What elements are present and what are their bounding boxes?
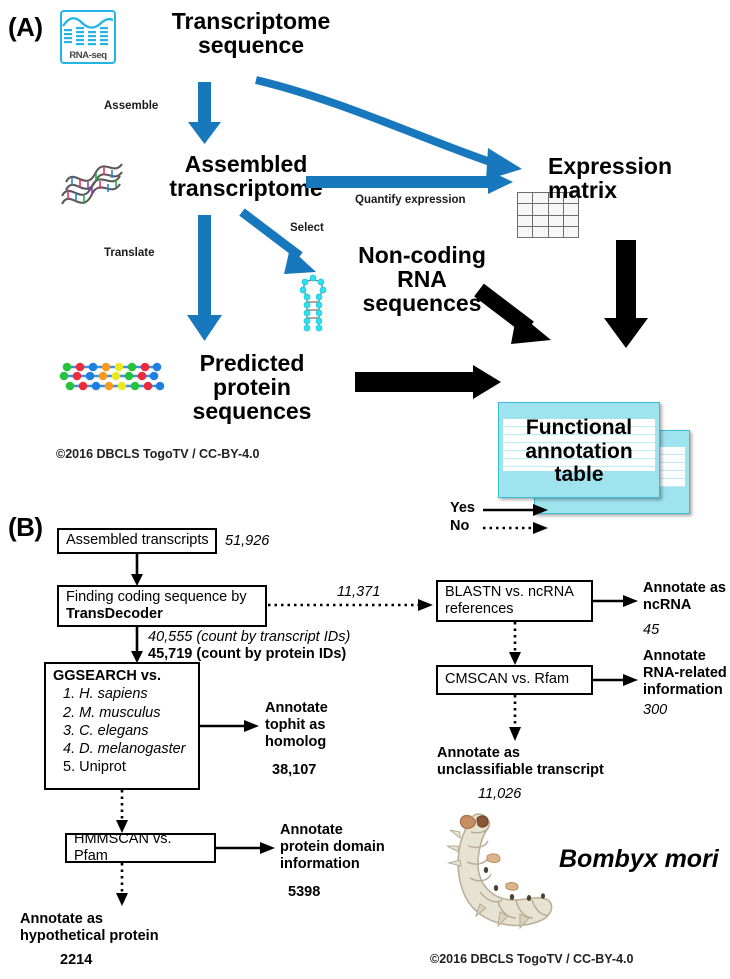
- legend-yes-label: Yes: [450, 500, 475, 516]
- legend-yes-arrow: [483, 503, 553, 517]
- arrow-ggsearch-to-hmmscan: [113, 790, 131, 834]
- arrow-protein-to-table: [355, 368, 505, 400]
- box-cmscan-label: CMSCAN vs. Rfam: [445, 671, 585, 688]
- count-ncrna: 45: [643, 622, 659, 638]
- annotation-ncrna: Annotate as ncRNA: [643, 580, 726, 614]
- annotation-protein-domain: Annotate protein domain information: [280, 822, 385, 872]
- edge-label-translate: Translate: [104, 247, 155, 259]
- arrow-blastn-to-cmscan: [506, 622, 524, 666]
- box-blastn-line1: BLASTN vs. ncRNA: [445, 584, 585, 601]
- box-ggsearch-title: GGSEARCH vs.: [53, 668, 192, 685]
- arrow-matrix-to-table: [604, 240, 650, 352]
- count-homolog: 38,107: [272, 762, 316, 778]
- node-predicted-protein: Predicted protein sequences: [152, 352, 352, 424]
- count-protein-domain: 5398: [288, 884, 320, 900]
- count-assembled-transcripts: 51,926: [225, 533, 269, 549]
- count-rna-related: 300: [643, 702, 667, 718]
- arrow-translate: [184, 215, 226, 345]
- node-expression-matrix: Expression matrix: [548, 155, 728, 203]
- box-transdecoder-line2: TransDecoder: [66, 606, 259, 623]
- box-ggsearch-item-3: 4. D. melanogaster: [53, 740, 192, 758]
- arrow-to-transdecoder: [128, 554, 146, 586]
- arrow-transdecoder-to-blastn: [268, 598, 436, 612]
- panel-a-letter: (A): [8, 12, 43, 43]
- arrow-to-ggsearch: [128, 627, 146, 663]
- box-transdecoder[interactable]: Finding coding sequence by TransDecoder: [57, 585, 267, 627]
- arrow-hmmscan-to-hypothetical: [113, 863, 131, 907]
- count-hypothetical: 2214: [60, 952, 92, 968]
- panel-b-letter: (B): [8, 512, 43, 543]
- edge-label-select: Select: [290, 222, 324, 234]
- count-transdecoder-to-blastn: 11,371: [337, 584, 380, 600]
- functional-annotation-table-graphic: Functional annotation table: [498, 402, 690, 514]
- dna-strands-icon: [56, 156, 126, 218]
- box-hmmscan-label: HMMSCAN vs. Pfam: [74, 831, 208, 866]
- node-functional-annotation-table: Functional annotation table: [498, 416, 660, 487]
- box-ggsearch-item-2: 3. C. elegans: [53, 722, 192, 740]
- count-unclassifiable: 11,026: [478, 786, 521, 802]
- species-name: Bombyx mori: [559, 845, 719, 874]
- edge-label-quantify: Quantify expression: [355, 194, 466, 206]
- node-transcriptome-sequence: Transcriptome sequence: [136, 10, 366, 58]
- panel-b-credit: ©2016 DBCLS TogoTV / CC-BY-4.0: [430, 952, 633, 966]
- arrow-cmscan-to-rna-related: [593, 673, 641, 687]
- silkworm-larva-icon: [430, 808, 560, 940]
- box-ggsearch-item-1: 2. M. musculus: [53, 704, 192, 722]
- rna-hairpin-icon: [297, 272, 331, 330]
- box-ggsearch[interactable]: GGSEARCH vs. 1. H. sapiens 2. M. musculu…: [44, 662, 200, 790]
- box-assembled-transcripts-label: Assembled transcripts: [66, 532, 209, 549]
- box-cmscan[interactable]: CMSCAN vs. Rfam: [436, 665, 593, 695]
- arrow-assemble: [184, 82, 226, 148]
- count-transcript-ids: 40,555 (count by transcript IDs): [148, 629, 350, 645]
- rnaseq-chart-icon: RNA-seq: [60, 10, 116, 64]
- box-blastn[interactable]: BLASTN vs. ncRNA references: [436, 580, 593, 622]
- annotation-unclassifiable: Annotate as unclassifiable transcript: [437, 745, 604, 779]
- box-ggsearch-item-0: 1. H. sapiens: [53, 685, 192, 703]
- annotation-hypothetical: Annotate as hypothetical protein: [20, 911, 159, 945]
- box-hmmscan[interactable]: HMMSCAN vs. Pfam: [65, 833, 216, 863]
- arrow-cmscan-to-unclassifiable: [506, 695, 524, 743]
- legend-no-arrow: [483, 521, 553, 535]
- rnaseq-icon-label: RNA-seq: [64, 50, 112, 61]
- panel-a-credit: ©2016 DBCLS TogoTV / CC-BY-4.0: [56, 447, 259, 461]
- box-assembled-transcripts[interactable]: Assembled transcripts: [57, 528, 217, 554]
- box-ggsearch-item-4: 5. Uniprot: [53, 758, 192, 776]
- annotation-rna-related: Annotate RNA-related information: [643, 648, 727, 698]
- edge-label-assemble: Assemble: [104, 100, 158, 112]
- box-transdecoder-line1: Finding coding sequence by: [66, 589, 259, 606]
- count-protein-ids: 45,719 (count by protein IDs): [148, 646, 346, 662]
- arrow-ggsearch-to-homolog: [200, 719, 262, 733]
- arrow-ncrna-to-table: [477, 288, 563, 358]
- annotation-homolog: Annotate tophit as homolog: [265, 700, 328, 750]
- arrow-blastn-to-ncrna: [593, 594, 641, 608]
- box-blastn-line2: references: [445, 601, 585, 618]
- protein-beads-icon: [60, 358, 166, 402]
- arrow-hmmscan-to-domain: [216, 841, 278, 855]
- legend-no-label: No: [450, 518, 469, 534]
